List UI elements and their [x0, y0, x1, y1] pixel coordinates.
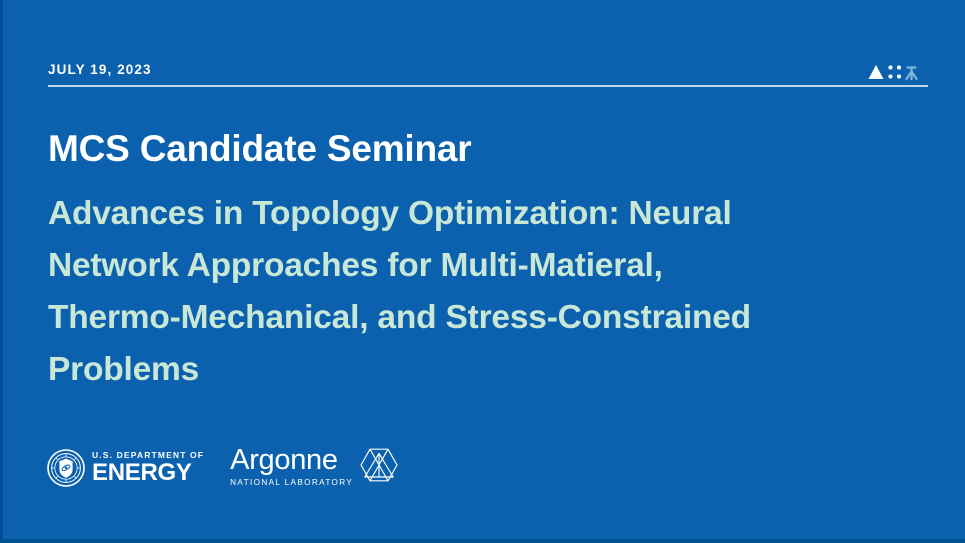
title-block: MCS Candidate Seminar Advances in Topolo…: [48, 126, 938, 396]
dot-top-right: [897, 65, 901, 69]
page-title: MCS Candidate Seminar: [48, 126, 938, 172]
dot-top-left: [888, 65, 892, 69]
footer-logo-row: U.S. DEPARTMENT OF ENERGY Argonne NATION…: [47, 443, 401, 493]
argonne-logo: Argonne NATIONAL LABORATORY: [230, 444, 401, 492]
dot-bottom-left: [888, 74, 892, 78]
slide-header: JULY 19, 2023: [48, 62, 928, 92]
subtitle-line-2: Network Approaches for Multi-Matieral,: [48, 240, 938, 292]
argonne-wordmark: Argonne: [230, 444, 354, 476]
doe-wordmark: U.S. DEPARTMENT OF ENERGY: [92, 451, 204, 485]
date-label: JULY 19, 2023: [48, 62, 928, 78]
argonne-text-wrap: Argonne NATIONAL LABORATORY: [230, 444, 354, 487]
corner-mark-svg: [867, 62, 923, 82]
header-divider-rule: [48, 85, 928, 87]
doe-energy-line: ENERGY: [92, 460, 204, 485]
subtitle-line-4: Problems: [48, 344, 938, 396]
slide-subtitle: Advances in Topology Optimization: Neura…: [48, 188, 938, 396]
triangle-glyph: [869, 65, 884, 79]
subtitle-line-3: Thermo-Mechanical, and Stress-Constraine…: [48, 292, 938, 344]
dot-bottom-right: [897, 74, 901, 78]
subtitle-line-1: Advances in Topology Optimization: Neura…: [48, 188, 938, 240]
a-mark-glyph: [907, 68, 917, 80]
title-slide: JULY 19, 2023 MCS Candidate Seminar Adva…: [0, 0, 965, 543]
argonne-tagline: NATIONAL LABORATORY: [230, 478, 354, 487]
argonne-corner-mark: [867, 62, 923, 82]
argonne-hexagon-mark-icon: [357, 446, 401, 484]
doe-seal-icon: [47, 449, 85, 487]
doe-logo: U.S. DEPARTMENT OF ENERGY: [47, 446, 204, 490]
